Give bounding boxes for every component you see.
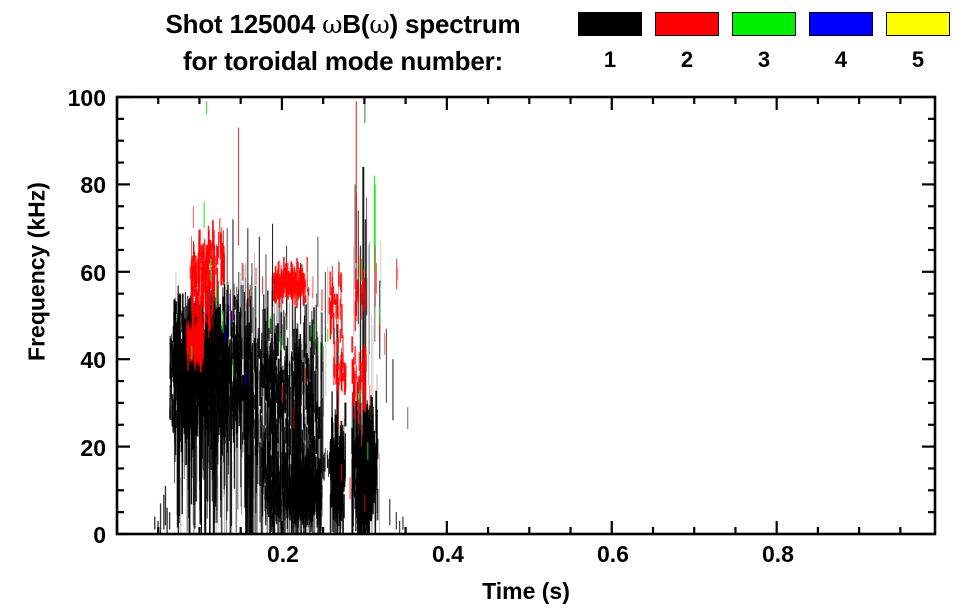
plot-area [0, 0, 963, 615]
spectrogram-data [154, 101, 408, 534]
spectrogram-figure: Shot 125004 ωB(ω) spectrum for toroidal … [0, 0, 963, 615]
